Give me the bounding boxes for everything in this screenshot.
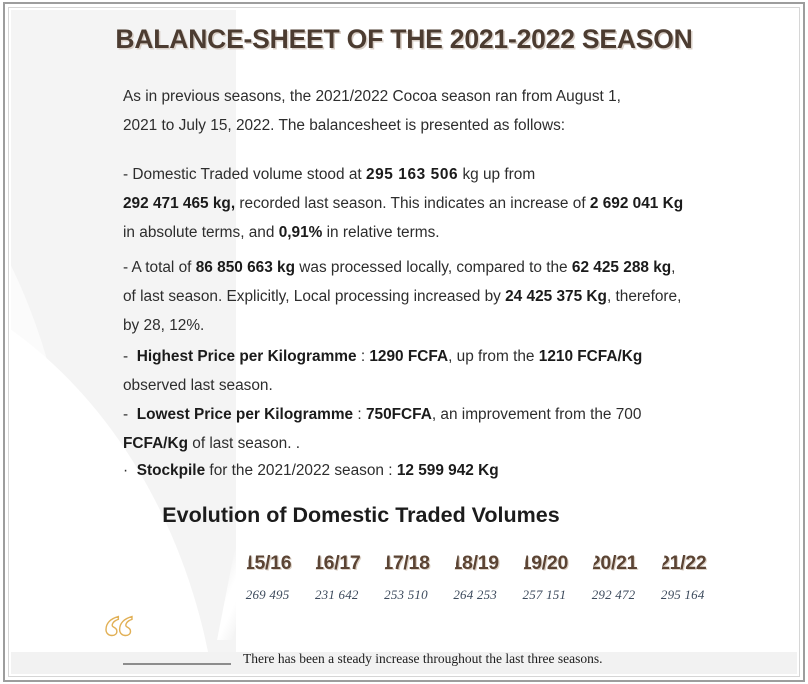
local-previous-value: 62 425 288 kg [572, 259, 671, 276]
paragraph-stockpile: · Stockpile for the 2021/2022 season : 1… [123, 456, 723, 485]
chart-note: There has been a steady increase through… [243, 651, 713, 667]
lowest-price-label: Lowest Price per Kilogramme [137, 406, 353, 423]
paragraph-local-processing: - A total of 86 850 663 kg was processed… [123, 253, 723, 340]
lowest-price-dash: - [123, 406, 128, 423]
season-value: 253 510 [371, 587, 440, 603]
highest-price-separator: : [361, 348, 365, 365]
season-label: 21/22 [648, 552, 717, 575]
chart-title: Evolution of Domestic Traded Volumes [11, 503, 711, 528]
season-label: 19/20 [510, 552, 579, 575]
highest-price-tail: observed last season. [123, 377, 273, 394]
chart-column: 21/22 295 164 [648, 552, 717, 603]
highest-price-dash: - [123, 348, 128, 365]
quote-mark-icon: “ [103, 618, 134, 658]
chart-column: 19/20 257 151 [510, 552, 579, 603]
chart-column: 20/21 292 472 [579, 552, 648, 603]
season-value: 269 495 [233, 587, 302, 603]
volume-unit-text: kg up from [462, 166, 535, 183]
volume-increase-value: 2 692 041 Kg [590, 195, 683, 212]
highest-price-mid: , up from the [448, 348, 534, 365]
intro-line-2: 2021 to July 15, 2022. The balancesheet … [123, 117, 565, 134]
chart-column-row: 15/16 269 495 16/17 231 642 17/18 253 51… [233, 552, 718, 603]
stockpile-label: Stockpile [137, 462, 205, 479]
volume-tail-text-1: in absolute terms, and [123, 224, 274, 241]
local-mid-text-1: was processed locally, compared to the [299, 259, 567, 276]
paragraph-intro: As in previous seasons, the 2021/2022 Co… [123, 82, 723, 140]
stockpile-mid-text: for the 2021/2022 season : [209, 462, 392, 479]
local-mid-text-2: , [671, 259, 675, 276]
paragraph-domestic-volume: - Domestic Traded volume stood at 295 16… [123, 160, 723, 247]
chart-evolution-domestic-volumes: 15/16 269 495 16/17 231 642 17/18 253 51… [233, 552, 718, 642]
season-label: 16/17 [302, 552, 371, 575]
volume-lead-text: - Domestic Traded volume stood at [123, 166, 362, 183]
season-value: 257 151 [510, 587, 579, 603]
stockpile-bullet-icon: · [123, 462, 128, 479]
season-value: 292 472 [579, 587, 648, 603]
highest-price-previous: 1210 FCFA/Kg [539, 348, 643, 365]
volume-tail-text-2: in relative terms. [327, 224, 440, 241]
lowest-price-tail: of last season. . [192, 435, 300, 452]
season-label: 18/19 [441, 552, 510, 575]
lowest-price-previous: FCFA/Kg [123, 435, 188, 452]
season-value: 295 164 [648, 587, 717, 603]
chart-column: 15/16 269 495 [233, 552, 302, 603]
volume-mid-text: recorded last season. This indicates an … [239, 195, 585, 212]
season-label: 20/21 [579, 552, 648, 575]
volume-previous-value: 292 471 465 kg, [123, 195, 235, 212]
local-mid-text-4: , therefore, [607, 288, 681, 305]
lowest-price-mid: , an improvement from the 700 [432, 406, 642, 423]
local-tail-text: by 28, 12%. [123, 317, 204, 334]
season-label: 17/18 [371, 552, 440, 575]
local-lead-text: - A total of [123, 259, 191, 276]
page-surface: BALANCE-SHEET OF THE 2021-2022 SEASON As… [11, 10, 797, 674]
slide-frame: BALANCE-SHEET OF THE 2021-2022 SEASON As… [0, 0, 808, 684]
local-mid-text-3: of last season. Explicitly, Local proces… [123, 288, 501, 305]
season-label: 15/16 [233, 552, 302, 575]
stockpile-value: 12 599 942 Kg [397, 462, 499, 479]
season-value: 264 253 [441, 587, 510, 603]
local-increase-value: 24 425 375 Kg [505, 288, 607, 305]
chart-column: 17/18 253 510 [371, 552, 440, 603]
volume-percent: 0,91% [279, 224, 323, 241]
page-title: BALANCE-SHEET OF THE 2021-2022 SEASON [11, 24, 797, 55]
chart-column: 16/17 231 642 [302, 552, 371, 603]
season-value: 231 642 [302, 587, 371, 603]
local-processed-value: 86 850 663 kg [196, 259, 295, 276]
lowest-price-separator: : [357, 406, 361, 423]
intro-line-1: As in previous seasons, the 2021/2022 Co… [123, 88, 621, 105]
highest-price-label: Highest Price per Kilogramme [137, 348, 357, 365]
chart-column: 18/19 264 253 [441, 552, 510, 603]
volume-value: 295 163 506 [366, 166, 458, 183]
paragraph-prices: - Highest Price per Kilogramme : 1290 FC… [123, 342, 723, 458]
highest-price-value: 1290 FCFA [369, 348, 448, 365]
quote-divider [123, 663, 231, 665]
lowest-price-value: 750FCFA [366, 406, 432, 423]
slide-content: BALANCE-SHEET OF THE 2021-2022 SEASON As… [11, 10, 797, 674]
